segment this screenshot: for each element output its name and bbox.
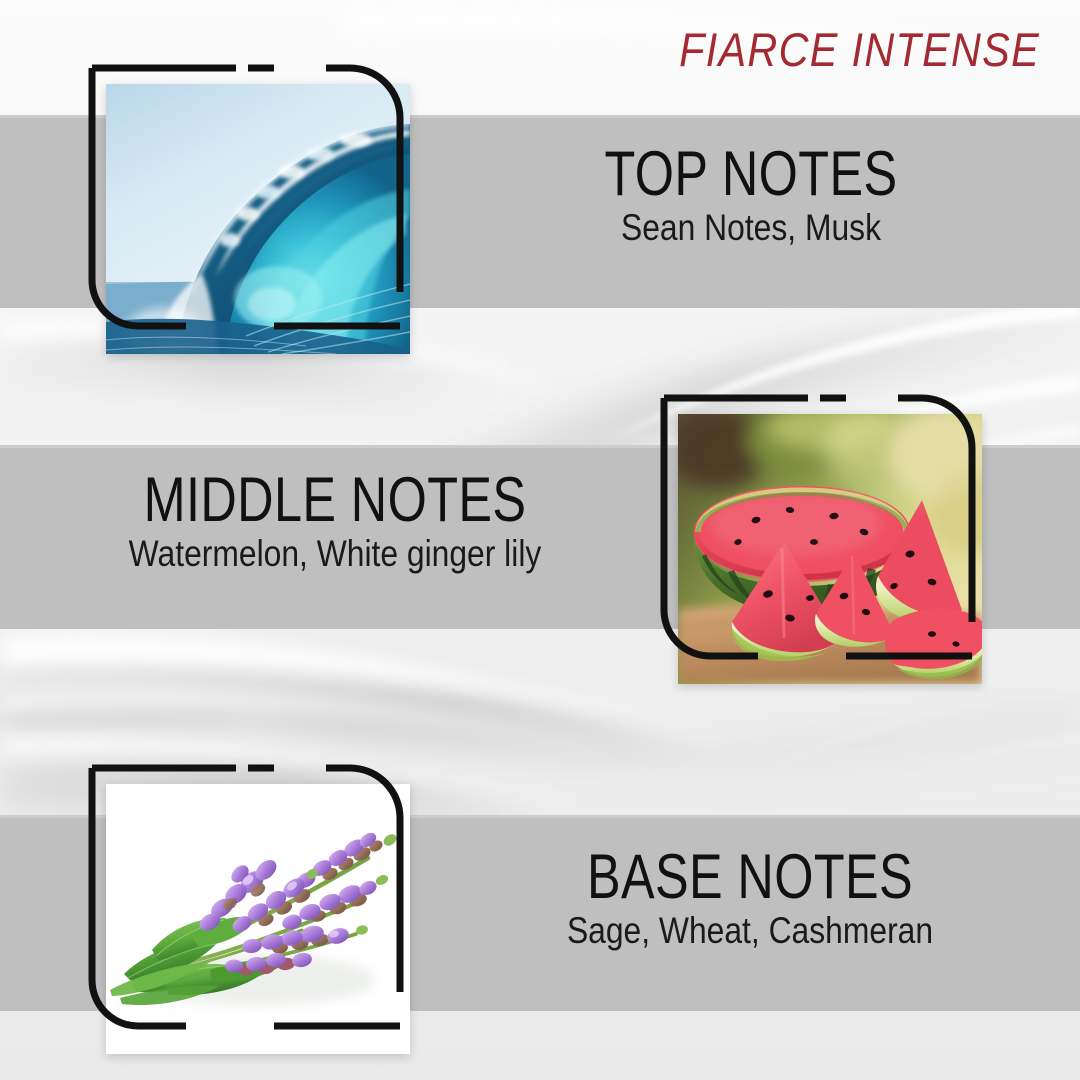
note-ingredients-top: Sean Notes, Musk — [548, 207, 954, 250]
note-heading-top: TOP NOTES — [562, 142, 940, 207]
note-ingredients-middle: Watermelon, White ginger lily — [94, 533, 576, 576]
note-heading-middle: MIDDLE NOTES — [111, 468, 559, 533]
note-text-base: BASE NOTES Sage, Wheat, Cashmeran — [500, 845, 1000, 952]
photo-card-base — [88, 762, 410, 1054]
infographic-canvas: FIARCE INTENSE — [0, 0, 1080, 1080]
photo-card-top — [88, 62, 410, 354]
photo-card-middle — [660, 392, 982, 684]
note-heading-base: BASE NOTES — [550, 845, 950, 910]
ocean-wave-photo — [106, 84, 410, 354]
sage-flowers-photo — [106, 784, 410, 1054]
note-text-middle: MIDDLE NOTES Watermelon, White ginger li… — [55, 468, 615, 575]
watermelon-photo — [678, 414, 982, 684]
note-ingredients-base: Sage, Wheat, Cashmeran — [535, 910, 965, 953]
note-text-top: TOP NOTES Sean Notes, Musk — [515, 142, 987, 249]
